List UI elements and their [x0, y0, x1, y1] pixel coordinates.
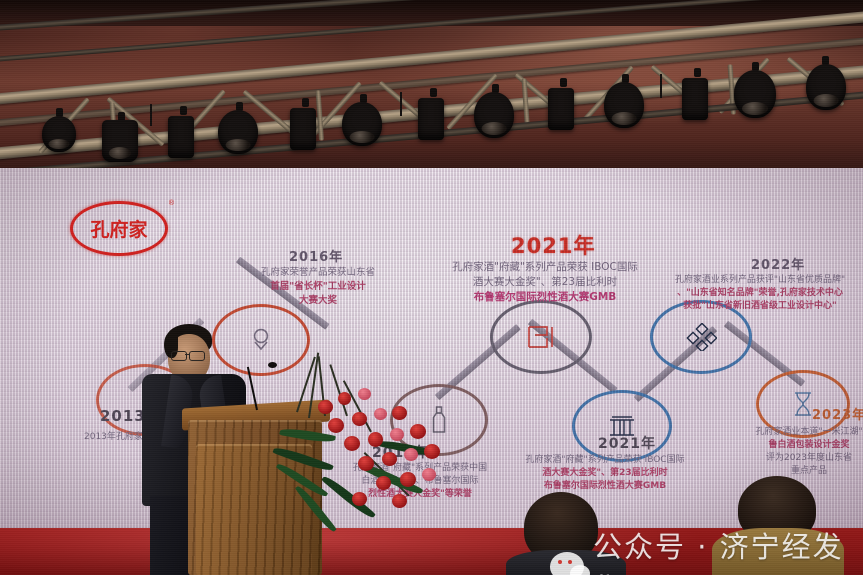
glasses-right-lens [189, 351, 205, 361]
moving-head-light-8 [474, 92, 514, 138]
rose-18 [422, 468, 436, 481]
lighting-cable-1 [150, 104, 170, 126]
lamp-lens-6 [350, 131, 375, 143]
par-light-5 [290, 108, 316, 150]
flower-bouquet [258, 352, 448, 527]
rose-19 [352, 492, 367, 506]
lamp-clamp-5 [302, 98, 309, 107]
brand-logo: 孔府家 ® [70, 201, 168, 256]
rose-5 [352, 412, 367, 426]
lamp-lens-2 [109, 147, 131, 159]
rose-13 [382, 452, 397, 466]
par-light-9 [548, 88, 574, 130]
rose-6 [374, 408, 387, 420]
moving-head-light-13 [806, 64, 846, 110]
audience-member-left [506, 492, 626, 575]
lighting-cable-2 [400, 92, 418, 116]
rose-2 [338, 392, 351, 405]
rose-15 [424, 444, 440, 459]
event-photo-scene: 2021年 孔府家酒"府藏"系列产品荣获 IBOC国际 酒大赛大金奖"、第23届… [0, 0, 863, 575]
rose-16 [376, 476, 391, 490]
lamp-clamp-7 [430, 88, 437, 97]
rose-3 [358, 388, 371, 400]
lamp-lens-10 [612, 112, 637, 125]
rose-9 [368, 432, 383, 447]
moving-head-light-4 [218, 110, 258, 154]
lamp-lens-1 [48, 139, 69, 149]
rose-11 [410, 424, 426, 439]
audience-shoulders-right [712, 528, 844, 575]
bouquet-leaf-4 [321, 473, 376, 521]
glasses-bridge [185, 354, 190, 355]
lamp-clamp-3 [180, 106, 187, 115]
logo-text: 孔府家 [70, 201, 168, 256]
moving-head-light-2 [102, 120, 138, 162]
moving-head-light-12 [734, 70, 776, 118]
lighting-cable-3 [660, 74, 680, 98]
moving-head-light-6 [342, 102, 382, 146]
rose-12 [358, 456, 374, 471]
audience-shoulders-left [506, 550, 626, 575]
lamp-lens-8 [482, 122, 507, 135]
par-light-7 [418, 98, 444, 140]
rose-10 [390, 428, 404, 441]
logo-trademark: ® [169, 200, 174, 207]
lamp-lens-4 [226, 139, 251, 151]
moving-head-light-10 [604, 82, 644, 128]
audience-member-right [712, 476, 844, 575]
glasses-icon [171, 351, 187, 361]
lamp-clamp-11 [694, 68, 701, 77]
rose-1 [318, 400, 333, 414]
par-light-11 [682, 78, 708, 120]
lamp-clamp-9 [560, 78, 567, 87]
rose-20 [392, 494, 407, 508]
lamp-lens-13 [814, 94, 839, 107]
rose-17 [400, 472, 416, 487]
rose-8 [344, 436, 360, 451]
rose-14 [404, 448, 418, 461]
moving-head-light-1 [42, 116, 76, 152]
rose-4 [328, 418, 344, 433]
bouquet-leaf-1 [279, 426, 336, 445]
lamp-lens-12 [742, 102, 768, 115]
rose-7 [392, 406, 407, 420]
par-light-3 [168, 116, 194, 158]
